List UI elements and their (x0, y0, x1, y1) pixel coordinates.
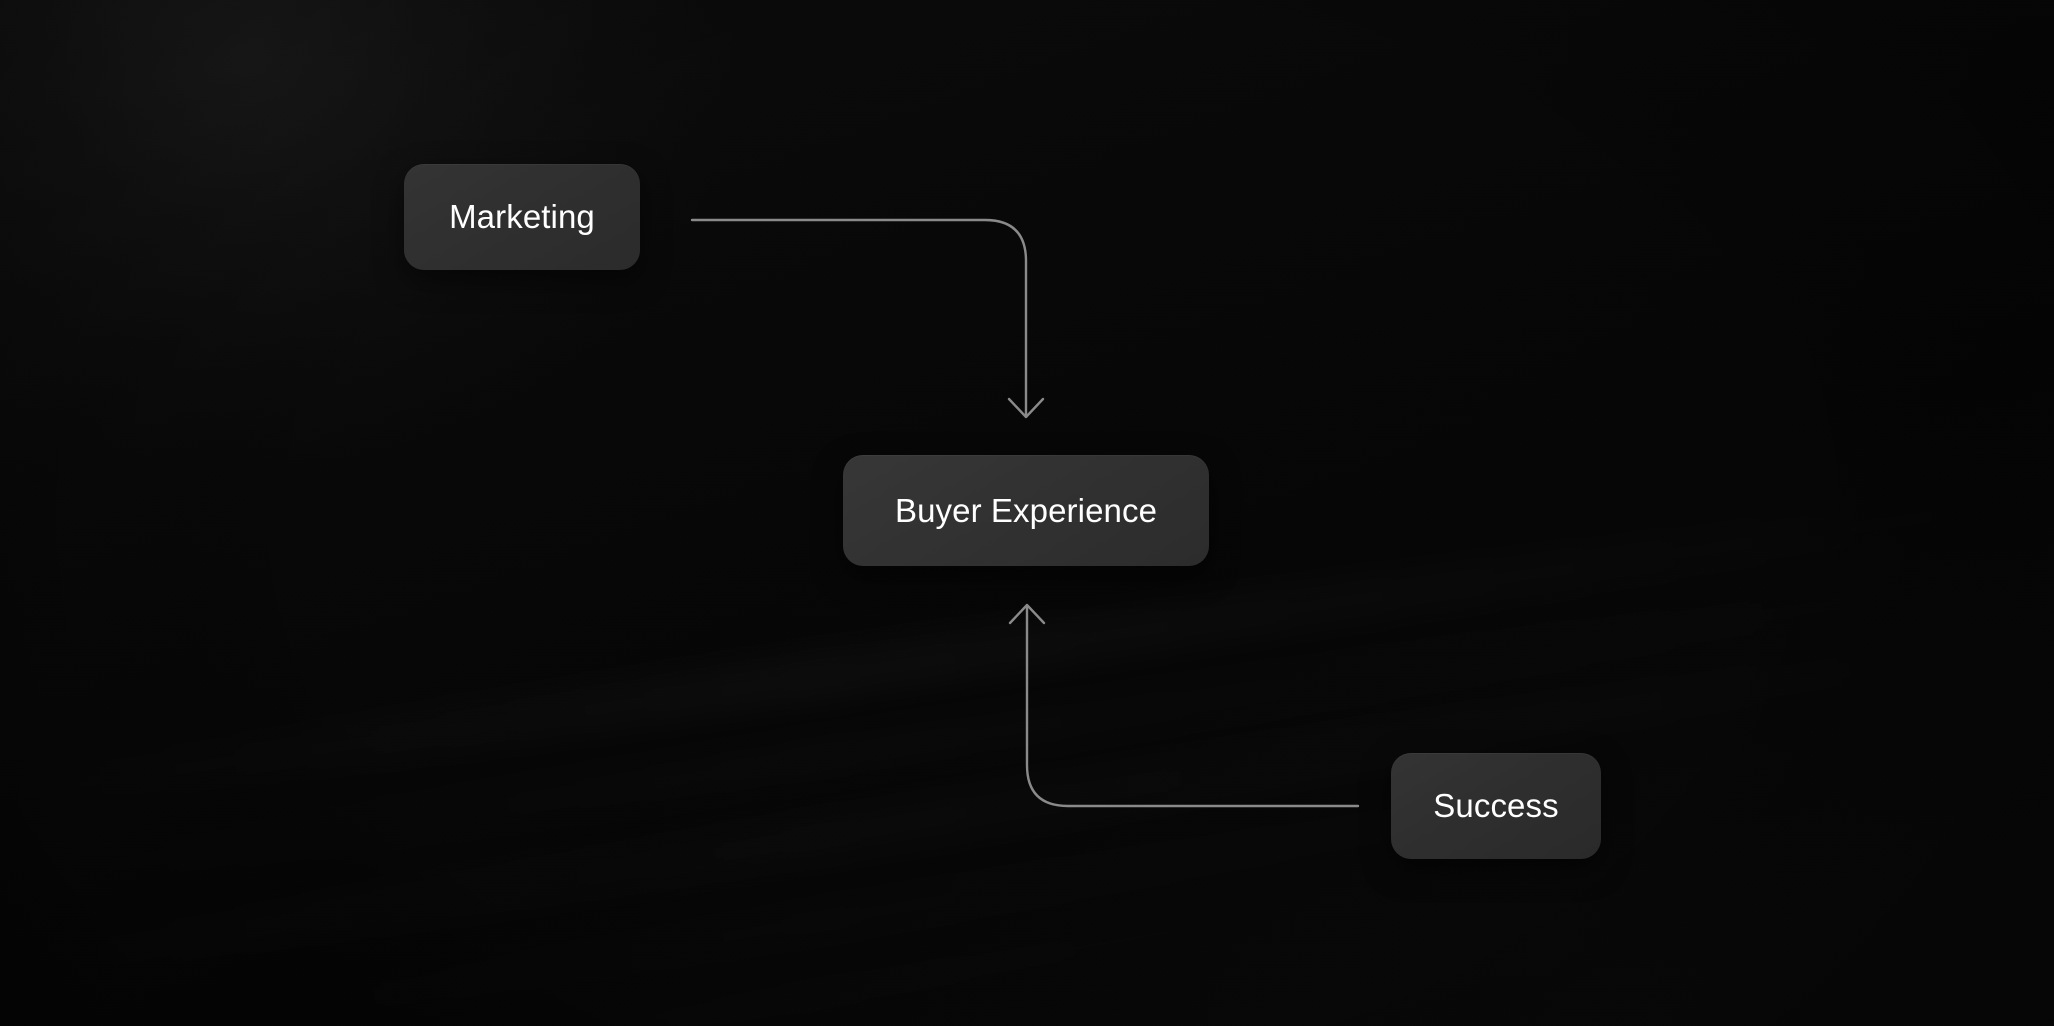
node-success-label: Success (1433, 787, 1558, 825)
edge-success-to-buyer-experience-line[interactable] (1027, 606, 1358, 806)
diagram-canvas[interactable]: Marketing Buyer Experience Success (0, 0, 2054, 1026)
node-marketing-label: Marketing (449, 198, 595, 236)
node-buyer-experience-label: Buyer Experience (895, 492, 1157, 530)
node-buyer-experience[interactable]: Buyer Experience (843, 455, 1209, 566)
edge-marketing-to-buyer-experience-line[interactable] (692, 220, 1026, 416)
node-marketing[interactable]: Marketing (404, 164, 640, 270)
node-success[interactable]: Success (1391, 753, 1601, 859)
